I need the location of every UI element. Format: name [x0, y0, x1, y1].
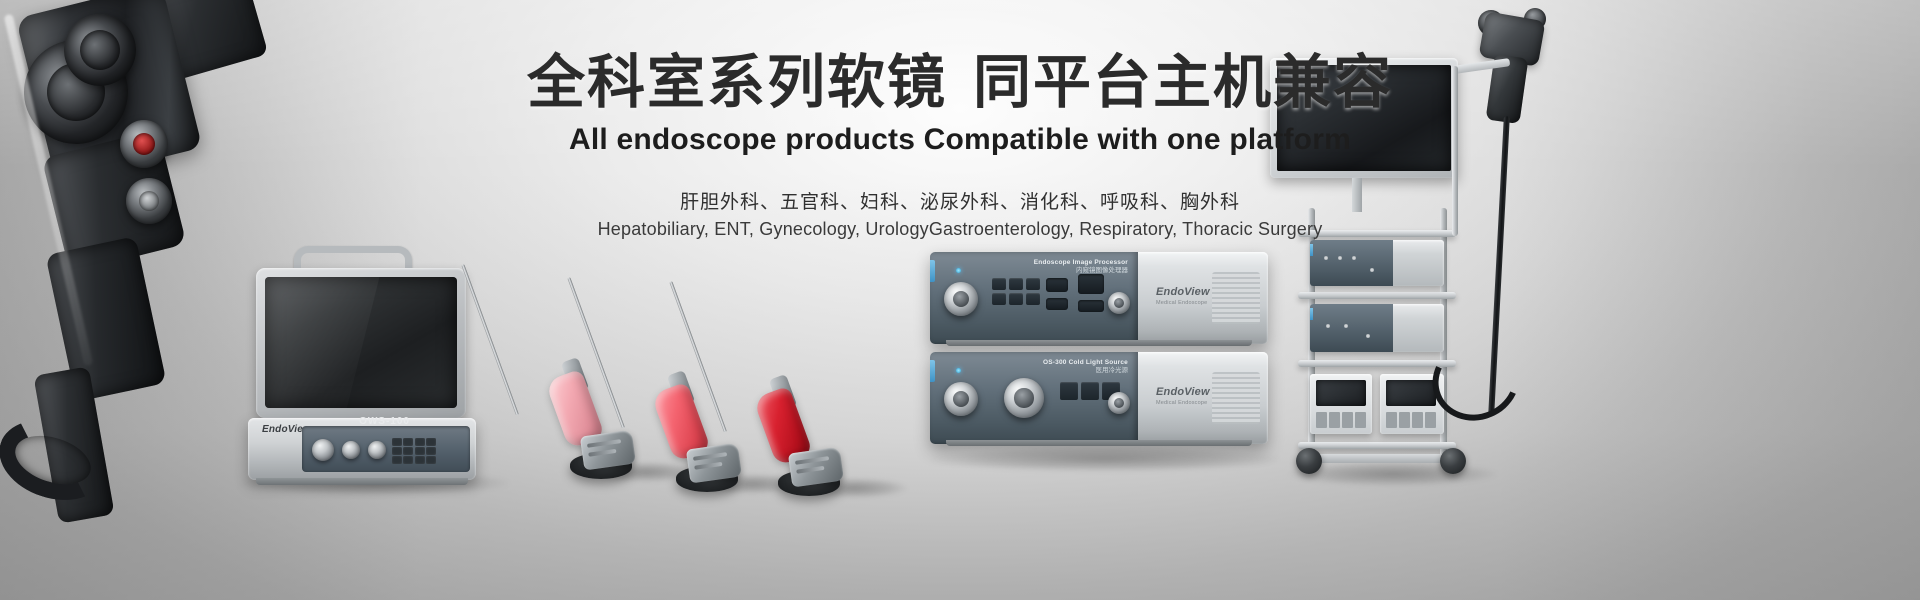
processor-brand-sub: Medical Endoscope: [1156, 300, 1207, 306]
processor-button-grid[interactable]: [992, 278, 1040, 305]
mini-button[interactable]: [1386, 412, 1397, 428]
lightsource-title-block: OS-300 Cold Light Source 医用冷光源: [1043, 359, 1128, 375]
processor-brand-label: EndoView: [1156, 286, 1210, 298]
knob-icon-lightsource-secondary[interactable]: [1108, 392, 1130, 414]
cart-device-insufflator: [1310, 374, 1372, 434]
processor-scope-socket[interactable]: [1078, 274, 1104, 294]
mini-button[interactable]: [1316, 412, 1327, 428]
mini-button[interactable]: [1355, 412, 1366, 428]
workstation-control-panel: OWS-100: [302, 426, 470, 472]
lightsource-title-cn: 医用冷光源: [1043, 367, 1128, 375]
cart-base-plate: [1304, 454, 1454, 463]
departments-chinese: 肝胆外科、五官科、妇科、泌尿外科、消化科、呼吸科、胸外科: [0, 187, 1920, 214]
processor-vent-grille: [1212, 272, 1260, 324]
processor-foot-rail: [946, 340, 1252, 346]
cart-device-lightsource: [1310, 304, 1444, 352]
scope-head-line: [795, 456, 829, 465]
lightsource-brand-sub: Medical Endoscope: [1156, 400, 1207, 406]
keypad-key[interactable]: [392, 456, 402, 464]
workstation-model-label: OWS-100: [359, 416, 410, 427]
keypad-key[interactable]: [392, 438, 402, 446]
mini-button[interactable]: [1399, 412, 1410, 428]
workstation-keypad[interactable]: [392, 438, 436, 464]
lightsource-vent-grille: [1212, 372, 1260, 424]
lightsource-button[interactable]: [1060, 382, 1078, 400]
processor-button[interactable]: [992, 293, 1006, 305]
mini-button[interactable]: [1412, 412, 1423, 428]
mini-button[interactable]: [1425, 412, 1436, 428]
cart-device-mini-buttons[interactable]: [1316, 412, 1366, 428]
processor-accent-strip: [930, 260, 935, 282]
caster-icon-wheel-left: [1296, 448, 1322, 474]
cold-light-source-os300: OS-300 Cold Light Source 医用冷光源 EndoView …: [930, 352, 1268, 444]
page-title: 全科室系列软镜同平台主机兼容: [0, 52, 1920, 115]
cart-device-mini-buttons[interactable]: [1386, 412, 1436, 428]
scope-head-line: [796, 466, 824, 474]
cart-device-indicator: [1344, 324, 1348, 328]
cart-device-processor: [1310, 240, 1444, 286]
caster-icon-wheel-right: [1440, 448, 1466, 474]
lightsource-button[interactable]: [1081, 382, 1099, 400]
subtitle-english: All endoscope products Compatible with o…: [0, 123, 1920, 157]
processor-button[interactable]: [1026, 278, 1040, 290]
knob-icon-processor-secondary[interactable]: [1108, 292, 1130, 314]
headline-part-1: 全科室系列软镜: [527, 50, 947, 115]
keypad-key[interactable]: [426, 456, 436, 464]
keypad-key[interactable]: [403, 438, 413, 446]
cart-device-mini-display: [1386, 380, 1436, 406]
cart-device-indicator: [1338, 256, 1342, 260]
knob-icon-workstation-aux2[interactable]: [368, 441, 386, 459]
lightsource-power-led: [956, 368, 961, 373]
knob-icon-lightsource-connector[interactable]: [944, 382, 978, 416]
processor-port-a[interactable]: [1046, 278, 1068, 292]
keypad-key[interactable]: [403, 456, 413, 464]
cart-shelf-4: [1298, 442, 1456, 449]
lightsource-accent-strip: [930, 360, 935, 382]
scope-head-connector: [788, 447, 844, 488]
cart-device-mini-display: [1316, 380, 1366, 406]
endoscope-image-processor: Endoscope Image Processor 内窥镜图像处理器 EndoV…: [930, 252, 1268, 344]
cart-device-indicator: [1370, 268, 1374, 272]
workstation-display-screen: [265, 277, 457, 408]
keypad-key[interactable]: [426, 438, 436, 446]
processor-button[interactable]: [1026, 293, 1040, 305]
cart-shelf-2: [1298, 292, 1456, 299]
workstation-foot-rail: [256, 478, 468, 485]
knob-icon-processor-main[interactable]: [944, 282, 978, 316]
processor-button[interactable]: [1009, 278, 1023, 290]
cart-device-face: [1310, 240, 1393, 286]
processor-button[interactable]: [992, 278, 1006, 290]
keypad-key[interactable]: [392, 447, 402, 455]
processor-title-block: Endoscope Image Processor 内窥镜图像处理器: [1034, 259, 1128, 275]
cart-device-accent-strip: [1310, 244, 1313, 256]
cart-device-accent-strip: [1310, 308, 1313, 320]
workstation-display-bezel: [256, 268, 466, 418]
headline-part-2: 同平台主机兼容: [973, 50, 1393, 115]
processor-port-b[interactable]: [1046, 298, 1068, 310]
portable-workstation-ows100: EndoView OWS-100: [236, 250, 496, 485]
keypad-key[interactable]: [426, 447, 436, 455]
departments-english: Hepatobiliary, ENT, Gynecology, UrologyG…: [0, 219, 1920, 240]
processor-stack: Endoscope Image Processor 内窥镜图像处理器 EndoV…: [930, 252, 1278, 457]
processor-button[interactable]: [1009, 293, 1023, 305]
keypad-key[interactable]: [415, 447, 425, 455]
lightsource-title-en: OS-300 Cold Light Source: [1043, 359, 1128, 367]
cart-device-indicator: [1366, 334, 1370, 338]
rigid-scope-dark-red: [716, 272, 866, 502]
cart-shelf-3: [1298, 360, 1456, 367]
scope-head-line: [588, 449, 616, 457]
keypad-key[interactable]: [415, 456, 425, 464]
processor-usb-port[interactable]: [1078, 300, 1104, 312]
lightsource-brand-label: EndoView: [1156, 386, 1210, 398]
banner-text-block: 全科室系列软镜同平台主机兼容 All endoscope products Co…: [0, 52, 1920, 240]
mini-button[interactable]: [1329, 412, 1340, 428]
knob-icon-brightness-dial[interactable]: [1004, 378, 1044, 418]
knob-icon-workstation-aux1[interactable]: [342, 441, 360, 459]
cart-device-face: [1310, 304, 1393, 352]
workstation-base-chassis: EndoView OWS-100: [248, 418, 476, 480]
mini-button[interactable]: [1342, 412, 1353, 428]
knob-icon-workstation-main[interactable]: [312, 439, 334, 461]
keypad-key[interactable]: [415, 438, 425, 446]
lightsource-foot-rail: [946, 440, 1252, 446]
lightsource-front-panel: OS-300 Cold Light Source 医用冷光源: [930, 352, 1138, 444]
processor-title-en: Endoscope Image Processor: [1034, 259, 1128, 267]
cart-device-indicator: [1352, 256, 1356, 260]
cart-device-indicator: [1324, 256, 1328, 260]
cart-device-indicator: [1326, 324, 1330, 328]
keypad-key[interactable]: [403, 447, 413, 455]
processor-power-led: [956, 268, 961, 273]
processor-front-panel: Endoscope Image Processor 内窥镜图像处理器: [930, 252, 1138, 344]
